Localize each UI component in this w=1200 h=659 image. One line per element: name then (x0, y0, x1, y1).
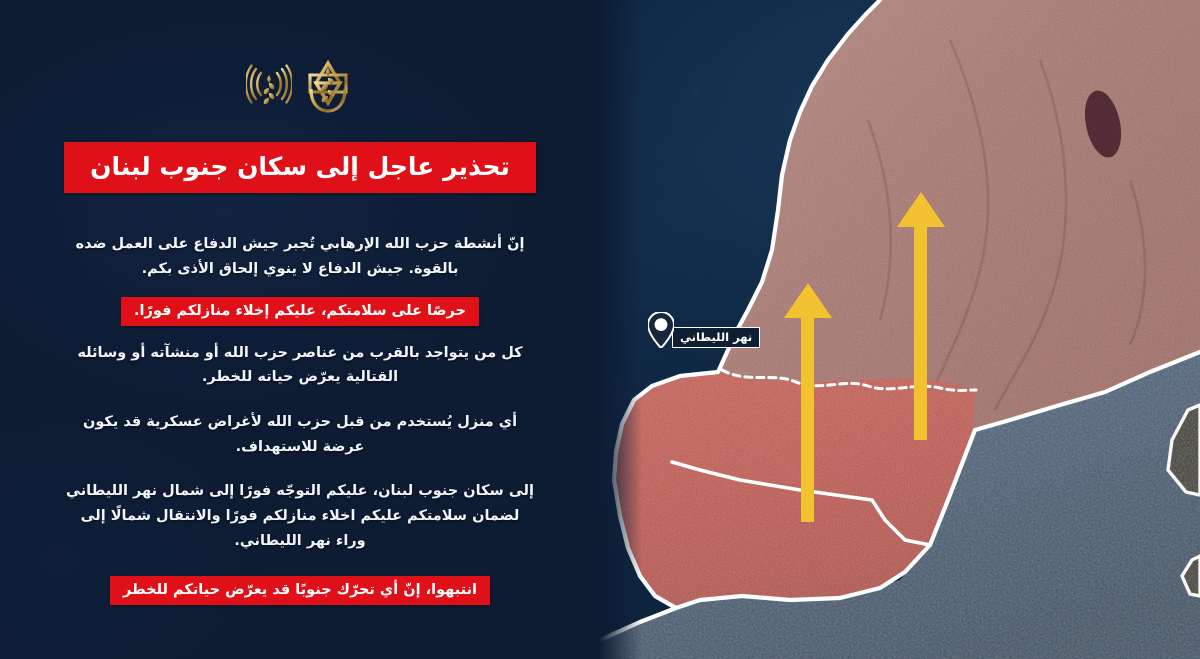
river-label: نهر الليطاني (672, 327, 760, 348)
paragraph-intro: إنّ أنشطة حزب الله الإرهابي تُجبر جيش ال… (65, 232, 535, 281)
paragraph-buildings: أي منزل يُستخدم من قبل حزب الله لأغراض ع… (65, 410, 535, 459)
paragraph-proximity: كل من يتواجد بالقرب من عناصر حزب الله أو… (65, 341, 535, 390)
title-banner: تحذير عاجل إلى سكان جنوب لبنان (64, 142, 536, 193)
evacuate-banner: حرصًا على سلامتكم، عليكم إخلاء منازلكم ف… (121, 297, 479, 326)
paragraph-move-north: إلى سكان جنوب لبنان، عليكم التوجّه فورًا… (65, 479, 535, 553)
litani-river-pin[interactable] (648, 312, 674, 348)
broadcast-tower-icon (246, 59, 292, 119)
warning-banner: انتبهوا، إنّ أي تحرّك جنوبًا قد يعرّض حي… (110, 576, 490, 605)
warning-graphic: نهر الليطاني (0, 0, 1200, 659)
text-panel: تحذير عاجل إلى سكان جنوب لبنان إنّ أنشطة… (0, 0, 600, 659)
litani-river-marker[interactable]: نهر الليطاني (648, 312, 760, 348)
emblem-row (246, 58, 354, 120)
idf-insignia-icon (302, 58, 354, 120)
